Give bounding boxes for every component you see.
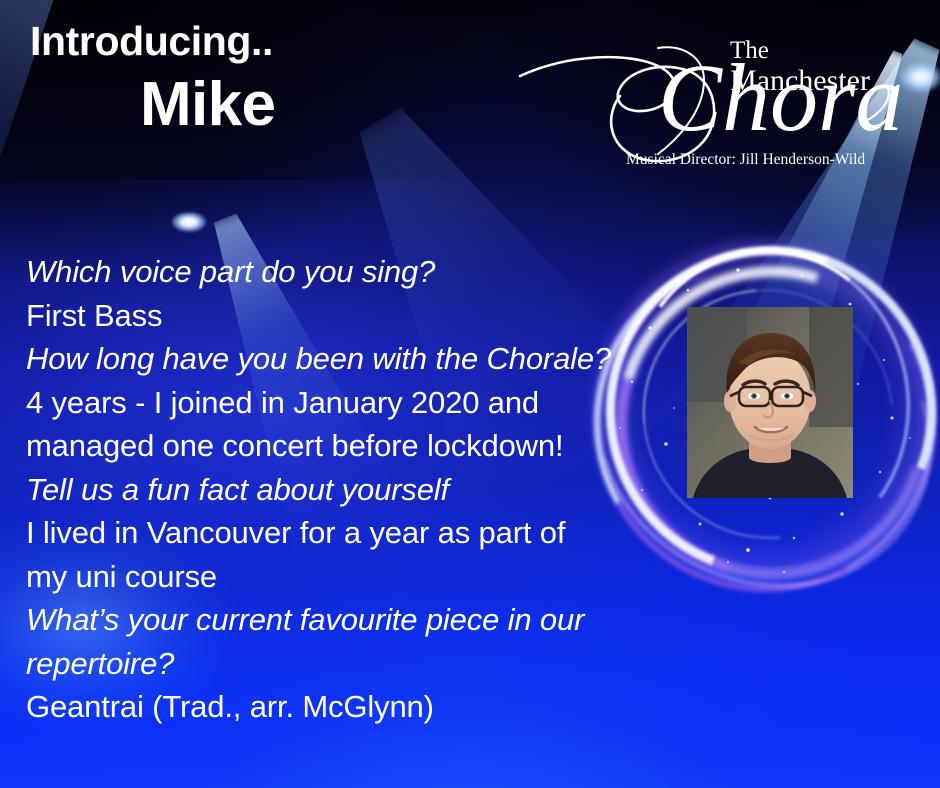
headline-block: Introducing.. Mike [30, 21, 275, 136]
interview-line: First Bass [26, 294, 726, 338]
member-name: Mike [140, 74, 275, 136]
interview-line: my uni course [26, 555, 726, 599]
interview-line: 4 years - I joined in January 2020 and [26, 381, 726, 425]
logo-chorale-text: Chorale [658, 44, 908, 151]
interview-line: How long have you been with the Chorale? [26, 337, 726, 381]
intro-label: Introducing.. [30, 21, 275, 62]
logo-musical-director-text: Musical Director: Jill Henderson-Wild [626, 151, 865, 168]
interview-line: What’s your current favourite piece in o… [26, 598, 726, 642]
interview-line: I lived in Vancouver for a year as part … [26, 511, 726, 555]
poster-canvas: Introducing.. Mike The Manchester Choral… [0, 0, 940, 788]
chorale-logo: The Manchester Chorale Musical Director:… [508, 18, 908, 176]
interview-line: repertoire? [26, 642, 726, 686]
interview-line: Tell us a fun fact about yourself [26, 468, 726, 512]
interview-line: Geantrai (Trad., arr. McGlynn) [26, 685, 726, 729]
interview-text-block: Which voice part do you sing? First Bass… [26, 250, 726, 729]
interview-line: managed one concert before lockdown! [26, 424, 726, 468]
spotlight-lamp-center [172, 212, 206, 232]
interview-line: Which voice part do you sing? [26, 250, 726, 294]
